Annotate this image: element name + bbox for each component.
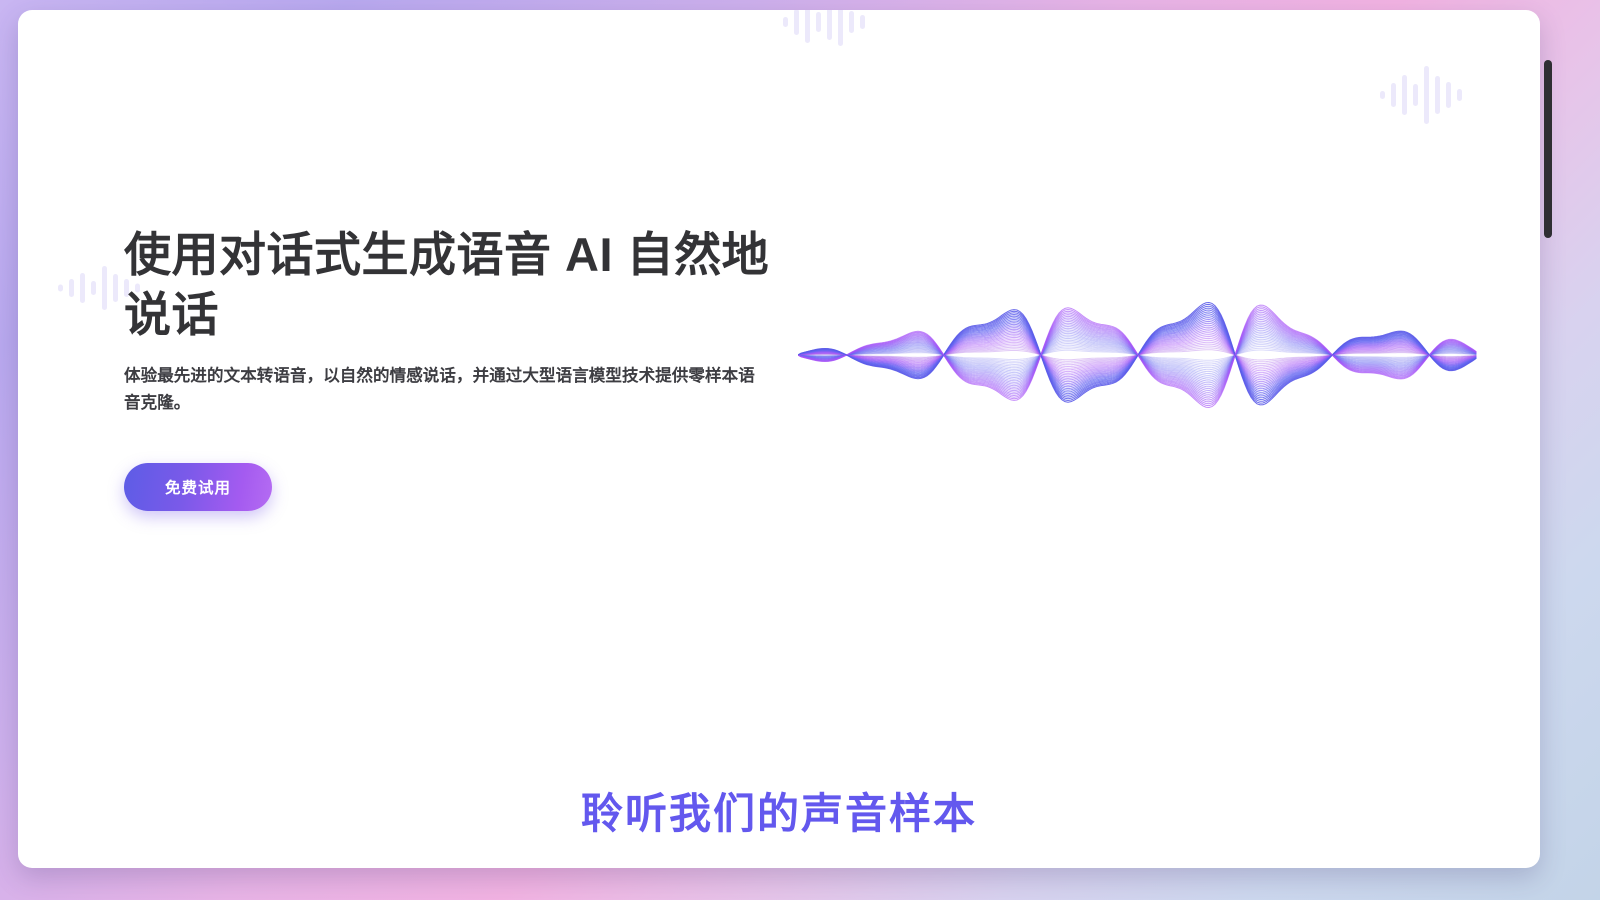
waveform-svg: [798, 160, 1478, 560]
hero-section: 使用对话式生成语音 AI 自然地说话 体验最先进的文本转语音，以自然的情感说话，…: [18, 10, 1540, 710]
hero-text-block: 使用对话式生成语音 AI 自然地说话 体验最先进的文本转语音，以自然的情感说话，…: [124, 225, 784, 511]
free-trial-button[interactable]: 免费试用: [124, 463, 272, 511]
audio-waveform-illustration: [798, 160, 1478, 560]
browser-viewport: 使用对话式生成语音 AI 自然地说话 体验最先进的文本转语音，以自然的情感说话，…: [0, 0, 1600, 900]
hero-subtitle: 体验最先进的文本转语音，以自然的情感说话，并通过大型语言模型技术提供零样本语音克…: [124, 363, 764, 416]
page-content-card: 使用对话式生成语音 AI 自然地说话 体验最先进的文本转语音，以自然的情感说话，…: [18, 10, 1540, 868]
vertical-scrollbar-track[interactable]: [1586, 10, 1600, 868]
page-title: 使用对话式生成语音 AI 自然地说话: [124, 225, 784, 345]
vertical-scrollbar-thumb[interactable]: [1544, 60, 1552, 238]
voice-samples-heading: 聆听我们的声音样本: [18, 780, 1540, 841]
